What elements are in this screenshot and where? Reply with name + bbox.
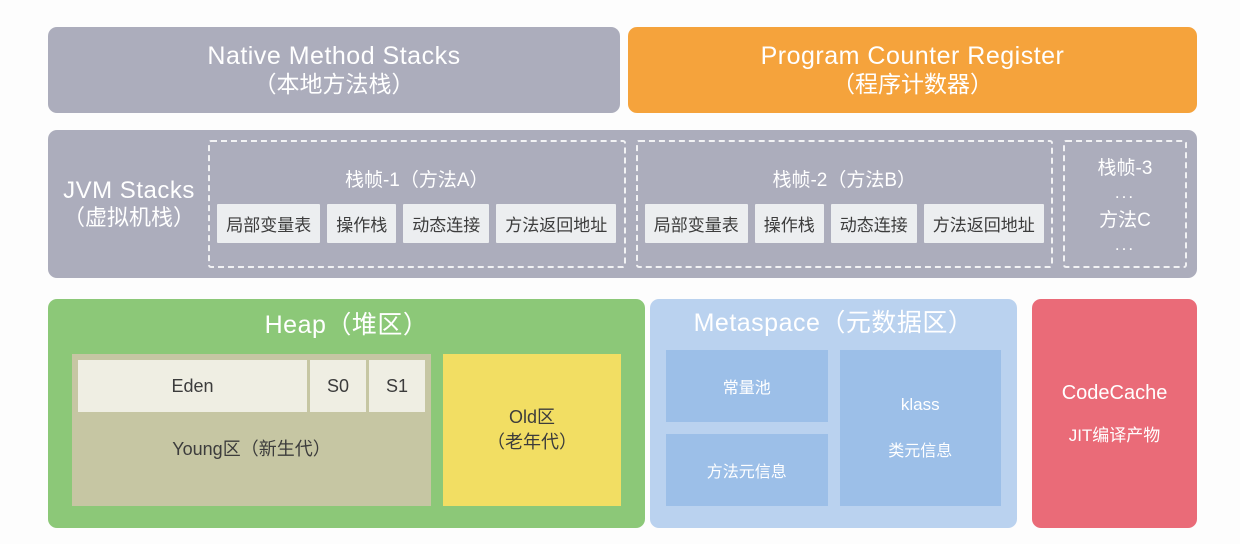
stack-frame-3-method: 方法C [1099, 205, 1151, 232]
heap-body: Eden S0 S1 Young区（新生代） Old区 （老年代） [72, 354, 621, 506]
survivor-0-region: S0 [310, 360, 366, 412]
program-counter-register-title-en: Program Counter Register [761, 42, 1065, 71]
metaspace-body: 常量池 方法元信息 klass 类元信息 [666, 350, 1001, 506]
jvm-stacks-title-cn: （虚拟机栈） [50, 205, 208, 231]
code-cache-label-cn: JIT编译产物 [1069, 421, 1161, 446]
frame-2-cell-operand-stack: 操作栈 [755, 204, 824, 243]
frame-2-cell-dynamic-link: 动态连接 [831, 204, 917, 243]
stack-frame-2: 栈帧-2（方法B） 局部变量表 操作栈 动态连接 方法返回地址 [636, 140, 1054, 268]
young-generation-label: Young区（新生代） [78, 412, 425, 506]
jvm-stacks-label: JVM Stacks （虚拟机栈） [48, 177, 208, 231]
frame-1-cell-operand-stack: 操作栈 [327, 204, 396, 243]
heap-title-en: Heap [265, 311, 327, 339]
klass-region: klass 类元信息 [840, 350, 1002, 506]
old-generation-block: Old区 （老年代） [443, 354, 621, 506]
stack-frame-3: 栈帧-3 ... 方法C ... [1063, 140, 1187, 268]
jvm-stacks-title-en: JVM Stacks [50, 177, 208, 205]
stack-frame-3-dots-bottom: ... [1115, 236, 1135, 253]
heap-block: Heap（堆区） Eden S0 S1 Young区（新生代） Old区 （老年… [48, 299, 645, 528]
survivor-1-region: S1 [369, 360, 425, 412]
klass-label-cn: 类元信息 [888, 437, 952, 461]
stack-frame-1-title: 栈帧-1（方法A） [345, 165, 489, 192]
young-generation-block: Eden S0 S1 Young区（新生代） [72, 354, 431, 506]
native-method-stacks-title-en: Native Method Stacks [207, 42, 460, 71]
heap-title-text: Heap（堆区） [72, 311, 621, 340]
program-counter-register-title-cn: （程序计数器） [832, 71, 993, 99]
metaspace-left-column: 常量池 方法元信息 [666, 350, 828, 506]
frame-2-cell-return-address: 方法返回地址 [924, 204, 1044, 243]
metaspace-title-cn: （元数据区） [820, 309, 973, 337]
code-cache-block: CodeCache JIT编译产物 [1032, 299, 1197, 528]
frame-2-cell-local-variable-table: 局部变量表 [645, 204, 748, 243]
old-generation-label-en: Old区 [509, 405, 555, 430]
old-generation-label-cn: （老年代） [487, 430, 577, 455]
constant-pool-region: 常量池 [666, 350, 828, 422]
frame-1-cell-local-variable-table: 局部变量表 [217, 204, 320, 243]
stack-frames-area: 栈帧-1（方法A） 局部变量表 操作栈 动态连接 方法返回地址 栈帧-2（方法B… [208, 130, 1197, 278]
stack-frame-1: 栈帧-1（方法A） 局部变量表 操作栈 动态连接 方法返回地址 [208, 140, 626, 268]
stack-frame-3-dots-top: ... [1115, 184, 1135, 201]
heap-title-cn: （堆区） [326, 311, 428, 339]
method-metadata-region: 方法元信息 [666, 434, 828, 506]
stack-frame-3-title: 栈帧-3 [1098, 153, 1153, 180]
code-cache-label-en: CodeCache [1062, 382, 1168, 405]
eden-region: Eden [78, 360, 307, 412]
young-generation-regions: Eden S0 S1 [78, 360, 425, 412]
klass-label-en: klass [901, 395, 940, 415]
stack-frame-2-title: 栈帧-2（方法B） [772, 165, 916, 192]
frame-1-cell-return-address: 方法返回地址 [496, 204, 616, 243]
native-method-stacks-block: Native Method Stacks （本地方法栈） [48, 27, 620, 113]
program-counter-register-block: Program Counter Register （程序计数器） [628, 27, 1197, 113]
stack-frame-1-cells: 局部变量表 操作栈 动态连接 方法返回地址 [217, 204, 616, 243]
metaspace-block: Metaspace（元数据区） 常量池 方法元信息 klass 类元信息 [650, 299, 1017, 528]
heap-title: Heap（堆区） [72, 311, 621, 340]
stack-frame-2-cells: 局部变量表 操作栈 动态连接 方法返回地址 [645, 204, 1044, 243]
metaspace-title: Metaspace（元数据区） [666, 309, 1001, 338]
frame-1-cell-dynamic-link: 动态连接 [403, 204, 489, 243]
jvm-stacks-block: JVM Stacks （虚拟机栈） 栈帧-1（方法A） 局部变量表 操作栈 动态… [48, 130, 1197, 278]
native-method-stacks-title-cn: （本地方法栈） [254, 71, 415, 99]
metaspace-title-en: Metaspace [694, 309, 821, 337]
diagram-canvas: Native Method Stacks （本地方法栈） Program Cou… [0, 0, 1240, 544]
